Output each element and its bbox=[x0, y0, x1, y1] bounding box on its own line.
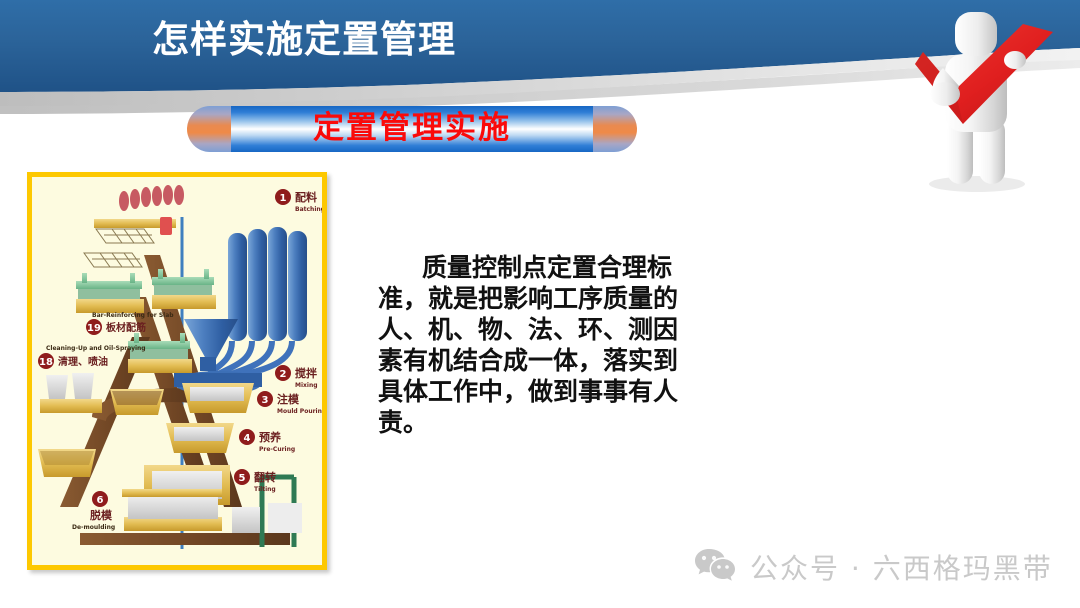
section-banner: 定置管理实施 bbox=[187, 106, 637, 152]
svg-text:脱模: 脱模 bbox=[90, 508, 113, 522]
svg-text:4: 4 bbox=[244, 433, 251, 444]
svg-text:Batching: Batching bbox=[295, 206, 322, 213]
svg-text:板材配筋: 板材配筋 bbox=[106, 321, 146, 334]
svg-text:Cleaning-Up and Oil-Spraying: Cleaning-Up and Oil-Spraying bbox=[46, 345, 146, 352]
svg-text:Pre-Curing: Pre-Curing bbox=[259, 446, 295, 453]
svg-text:Tilting: Tilting bbox=[254, 486, 276, 493]
svg-text:3: 3 bbox=[262, 395, 269, 406]
svg-text:翻转: 翻转 bbox=[254, 470, 276, 484]
svg-text:预养: 预养 bbox=[259, 430, 282, 444]
svg-text:清理、喷油: 清理、喷油 bbox=[58, 355, 108, 368]
svg-text:1: 1 bbox=[280, 193, 287, 204]
svg-text:注模: 注模 bbox=[277, 392, 300, 406]
banner-label: 定置管理实施 bbox=[187, 106, 637, 152]
svg-text:19: 19 bbox=[87, 323, 101, 334]
svg-text:18: 18 bbox=[39, 357, 53, 368]
svg-text:配料: 配料 bbox=[295, 190, 317, 204]
svg-text:2: 2 bbox=[280, 369, 287, 380]
watermark-text: 公众号 · 六西格玛黑带 bbox=[750, 547, 1053, 587]
svg-text:De-moulding: De-moulding bbox=[72, 524, 115, 531]
slide-canvas: 怎样实施定置管理 bbox=[0, 0, 1080, 608]
svg-text:搅拌: 搅拌 bbox=[295, 366, 317, 380]
mascot-figure-with-check bbox=[893, 2, 1078, 202]
watermark: 公众号 · 六西格玛黑带 bbox=[694, 540, 1053, 594]
process-flow-diagram: 1 配料 Batching 2 搅拌 Mixing 3 注模 Mould Pou… bbox=[27, 172, 327, 570]
svg-text:6: 6 bbox=[97, 495, 104, 506]
svg-text:5: 5 bbox=[239, 473, 246, 484]
svg-text:Bar-Reinforcing for Slab: Bar-Reinforcing for Slab bbox=[92, 312, 174, 319]
body-paragraph: 质量控制点定置合理标准，就是把影响工序质量的人、机、物、法、环、测因素有机结合成… bbox=[378, 252, 698, 438]
svg-text:Mould Pouring: Mould Pouring bbox=[277, 408, 322, 415]
page-title: 怎样实施定置管理 bbox=[152, 14, 572, 66]
svg-text:Mixing: Mixing bbox=[295, 382, 318, 389]
wechat-icon bbox=[694, 548, 736, 587]
